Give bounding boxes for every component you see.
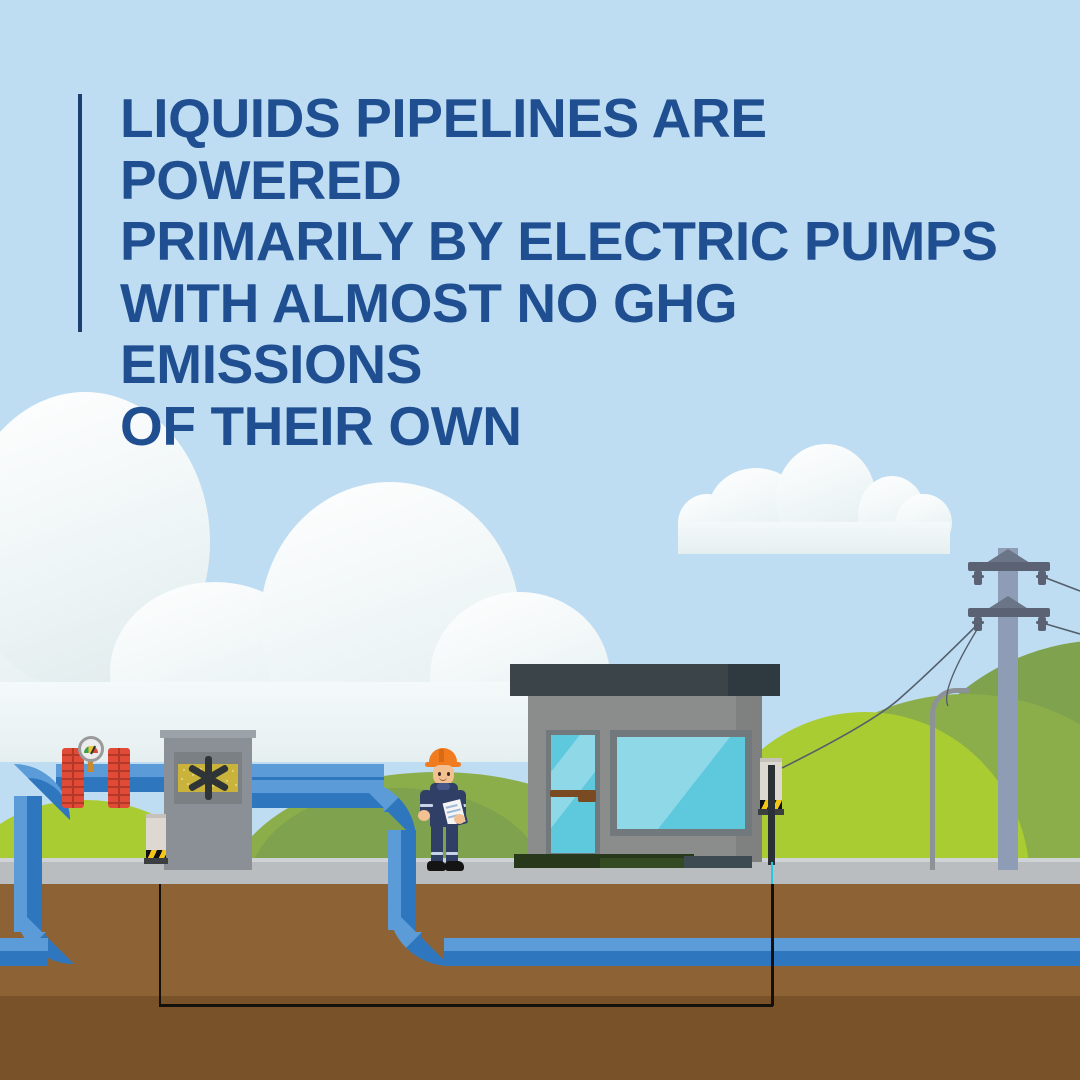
worker-face — [433, 765, 454, 785]
soil-layer-lower — [0, 996, 1080, 1080]
pipeline-segment-underground-left — [0, 938, 48, 966]
infographic-canvas: LIQUIDS PIPELINES ARE POWERED PRIMARILY … — [0, 0, 1080, 1080]
building-foundation-slab — [684, 856, 752, 868]
door-handle-knob[interactable] — [578, 790, 596, 802]
worker-arm-stripe-left — [420, 804, 433, 807]
worker-hard-hat-ridge — [439, 749, 444, 763]
conduit-riser — [768, 765, 775, 865]
page-title: LIQUIDS PIPELINES ARE POWERED PRIMARILY … — [120, 88, 1038, 458]
pressure-gauge-icon — [78, 736, 104, 762]
building-roof-shadow — [728, 664, 780, 696]
pump-impeller-icon — [186, 756, 230, 800]
power-pole-crossarm-bottom — [968, 608, 1050, 617]
buried-cable-horizontal — [159, 1004, 773, 1007]
conduit-service-pole-leg — [930, 714, 935, 870]
insulator-top-right — [1038, 571, 1046, 585]
pipeline-segment-underground — [444, 938, 1080, 966]
power-pole-brace-top — [986, 549, 1030, 563]
hazard-stripe-left — [146, 850, 166, 858]
insulator-bottom-right — [1038, 617, 1046, 631]
worker-hand-right — [454, 814, 465, 824]
insulator-bottom-left — [974, 617, 982, 631]
buried-cable-vertical-right — [771, 884, 774, 1006]
worker-leg-left — [431, 824, 443, 864]
worker-leg-stripe-left — [431, 852, 443, 855]
worker-boot-right — [445, 861, 464, 871]
worker-leg-stripe-right — [446, 852, 458, 855]
headline-block: LIQUIDS PIPELINES ARE POWERED PRIMARILY … — [78, 88, 1038, 458]
power-pole-crossarm-top — [968, 562, 1050, 571]
worker-leg-right — [446, 824, 458, 864]
headline-accent-bar — [78, 94, 82, 332]
worker-hand-left — [418, 810, 430, 821]
buried-cable-vertical-left — [159, 884, 161, 1006]
utility-cabinet-left-base — [144, 858, 168, 864]
pump-cap — [160, 730, 256, 738]
worker-boot-left — [427, 861, 446, 871]
building-window-glass — [617, 737, 745, 829]
valve-flange-right — [108, 748, 130, 808]
insulator-top-left — [974, 571, 982, 585]
worker-collar — [437, 783, 450, 790]
worker-figure — [418, 748, 474, 872]
worker-eye-right — [447, 772, 450, 776]
cloud-small — [678, 444, 950, 554]
